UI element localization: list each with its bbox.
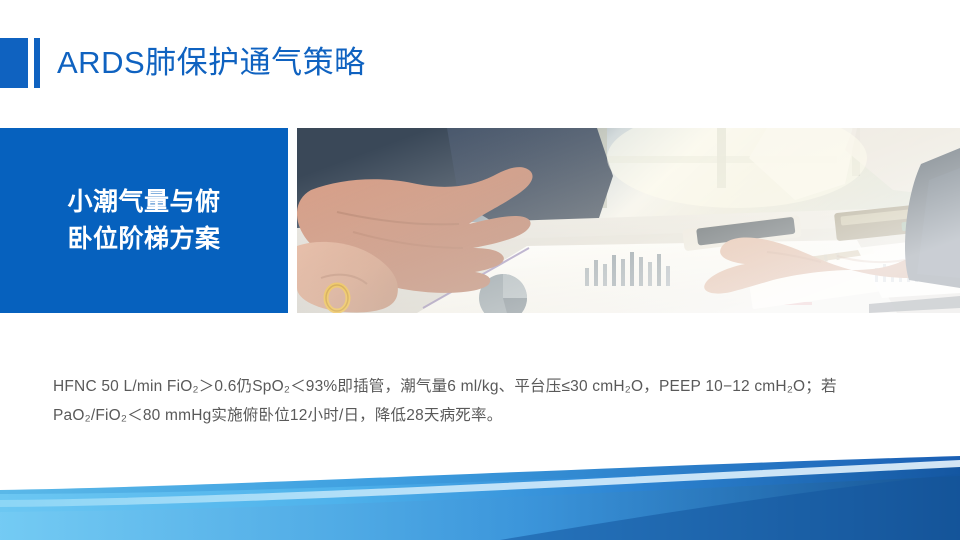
caption-line-1: 小潮气量与俯 — [39, 184, 249, 220]
meeting-photo-graphic — [297, 128, 960, 313]
meeting-photo — [297, 128, 960, 313]
caption-line-2: 卧位阶梯方案 — [39, 221, 249, 257]
footer-wave-graphic — [0, 450, 960, 540]
title-accent-bar-icon — [34, 38, 40, 88]
caption-panel-text: 小潮气量与俯 卧位阶梯方案 — [39, 184, 249, 257]
slide-canvas: ARDS肺保护通气策略 小潮气量与俯 卧位阶梯方案 — [0, 0, 960, 540]
title-row: ARDS肺保护通气策略 — [0, 38, 366, 88]
page-title: ARDS肺保护通气策略 — [57, 38, 366, 88]
footer-wave-decoration — [0, 450, 960, 540]
body-paragraph: HFNC 50 L/min FiO₂＞0.6仍SpO₂＜93%即插管，潮气量6 … — [53, 372, 843, 430]
caption-panel: 小潮气量与俯 卧位阶梯方案 — [0, 128, 288, 313]
title-accent-block-icon — [0, 38, 28, 88]
